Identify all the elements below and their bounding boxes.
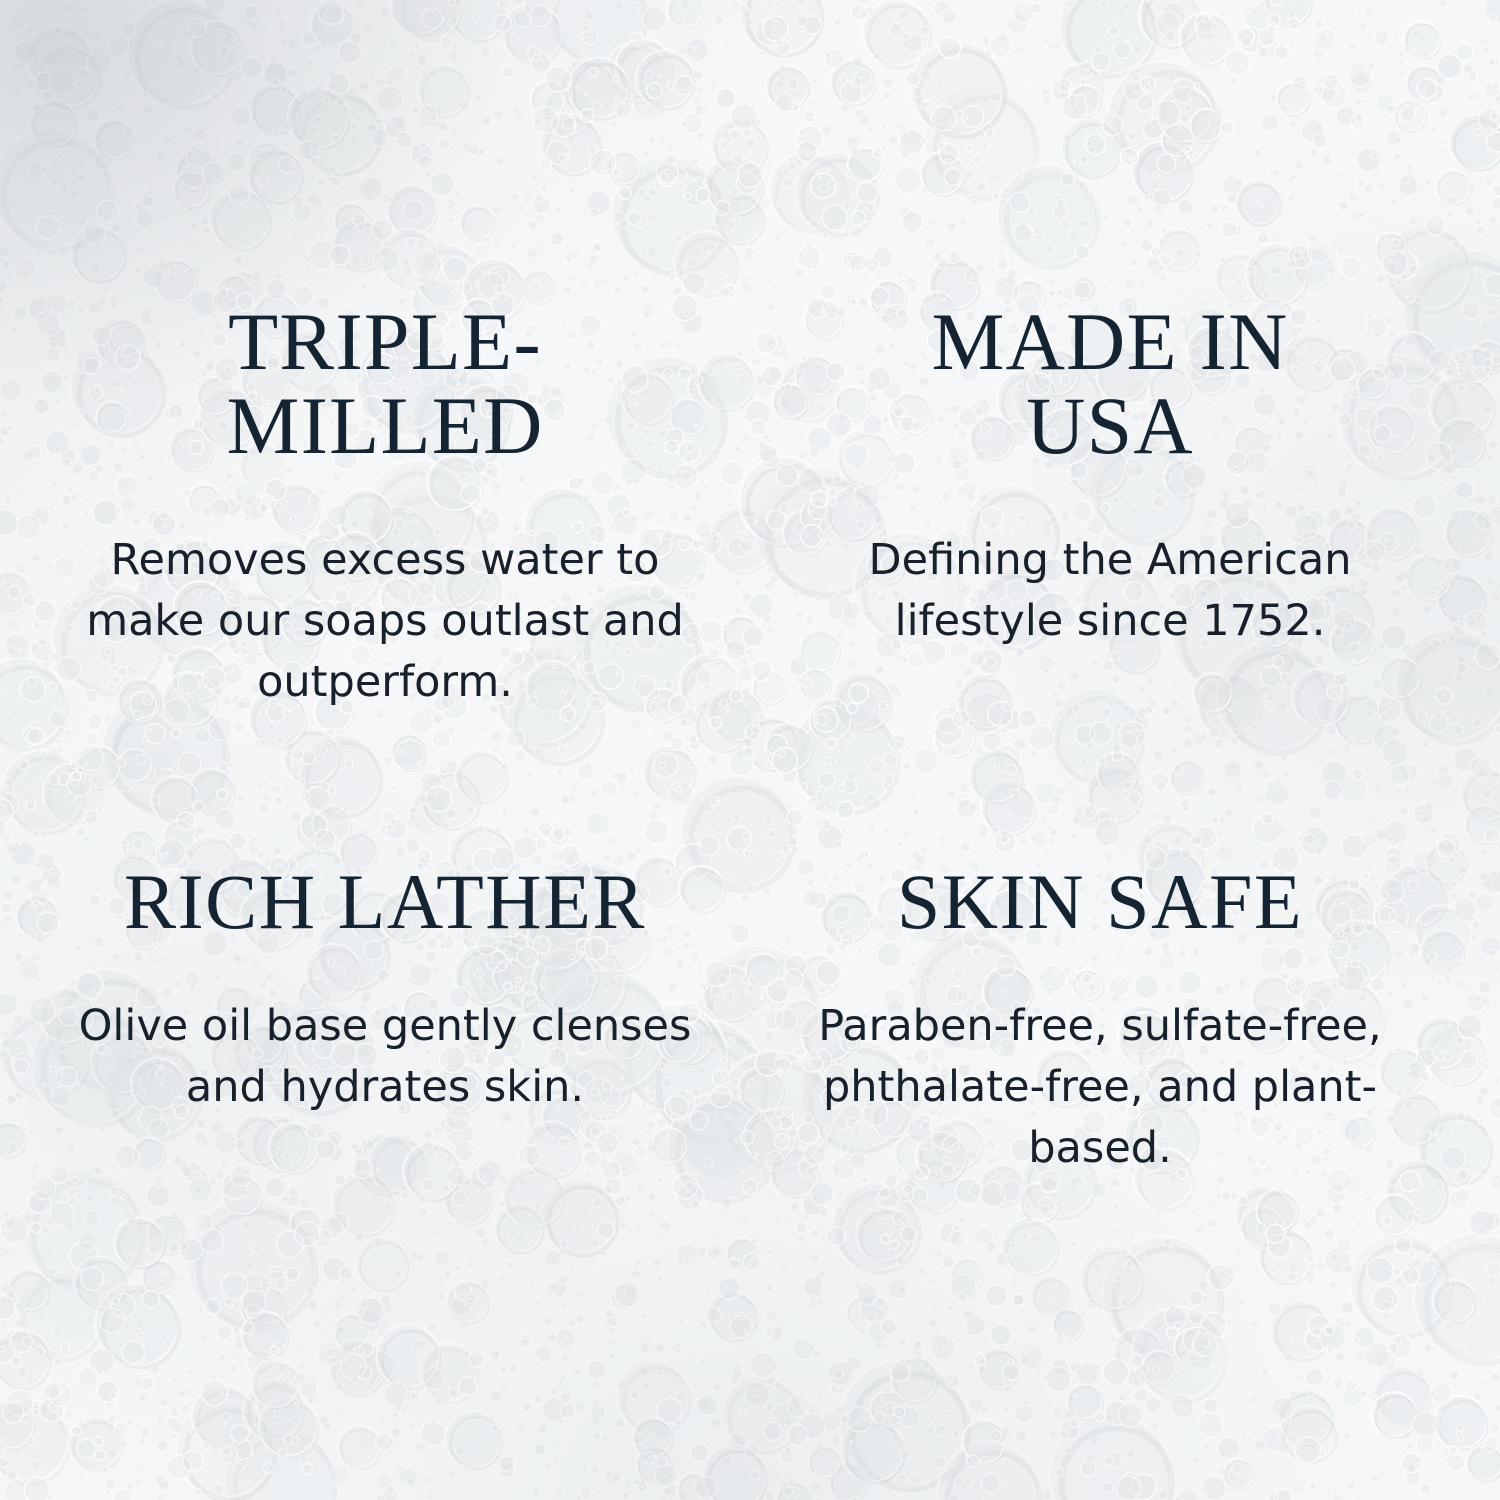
feature-block-rich-lather: RICH LATHER Olive oil base gently clense… xyxy=(0,860,750,1500)
feature-body-triple-milled: Removes excess water to make our soaps o… xyxy=(75,530,695,713)
feature-block-triple-milled: TRIPLE-MILLED Removes excess water to ma… xyxy=(0,300,750,860)
feature-heading-skin-safe: SKIN SAFE xyxy=(897,860,1303,944)
feature-block-made-in-usa: MADE IN USA Defining the American lifest… xyxy=(750,300,1500,860)
feature-heading-triple-milled: TRIPLE-MILLED xyxy=(75,300,695,468)
feature-grid: TRIPLE-MILLED Removes excess water to ma… xyxy=(0,0,1500,1500)
feature-heading-made-in-usa: MADE IN USA xyxy=(840,300,1380,468)
feature-body-rich-lather: Olive oil base gently clenses and hydrat… xyxy=(60,996,710,1118)
feature-body-skin-safe: Paraben-free, sulfate-free, phthalate-fr… xyxy=(810,996,1390,1179)
feature-block-skin-safe: SKIN SAFE Paraben-free, sulfate-free, ph… xyxy=(750,860,1500,1500)
product-feature-graphic: TRIPLE-MILLED Removes excess water to ma… xyxy=(0,0,1500,1500)
feature-body-made-in-usa: Defining the American lifestyle since 17… xyxy=(840,530,1380,652)
feature-heading-rich-lather: RICH LATHER xyxy=(124,860,646,944)
